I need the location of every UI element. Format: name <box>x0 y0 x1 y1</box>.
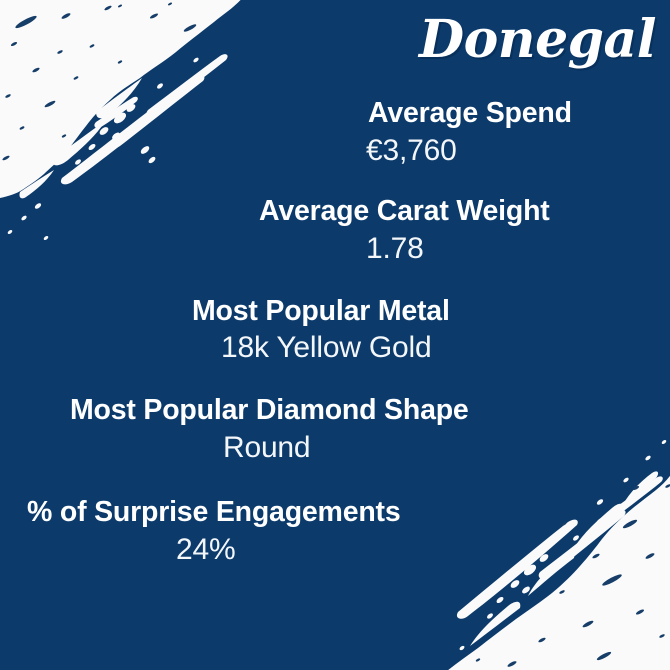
stat-label: % of Surprise Engagements <box>27 495 670 530</box>
infographic-card: Donegal Average Spend €3,760 Average Car… <box>0 0 670 670</box>
stat-row-most-popular-diamond-shape: Most Popular Diamond Shape Round <box>0 393 670 467</box>
stat-row-most-popular-metal: Most Popular Metal 18k Yellow Gold <box>0 294 670 368</box>
stats-list: Average Spend €3,760 Average Carat Weigh… <box>0 96 670 583</box>
stat-value: 18k Yellow Gold <box>221 328 670 367</box>
stat-row-average-spend: Average Spend €3,760 <box>0 96 670 170</box>
stat-label: Average Spend <box>368 96 670 131</box>
stat-value: 24% <box>176 530 670 569</box>
stat-row-surprise-engagements: % of Surprise Engagements 24% <box>0 495 670 569</box>
stat-label: Most Popular Metal <box>192 294 670 329</box>
page-title: Donegal <box>419 14 656 66</box>
stat-value: €3,760 <box>366 131 670 170</box>
stat-value: 1.78 <box>366 229 670 268</box>
stat-label: Most Popular Diamond Shape <box>70 393 670 428</box>
stat-row-average-carat-weight: Average Carat Weight 1.78 <box>0 194 670 268</box>
stat-value: Round <box>223 428 670 467</box>
stat-label: Average Carat Weight <box>259 194 670 229</box>
